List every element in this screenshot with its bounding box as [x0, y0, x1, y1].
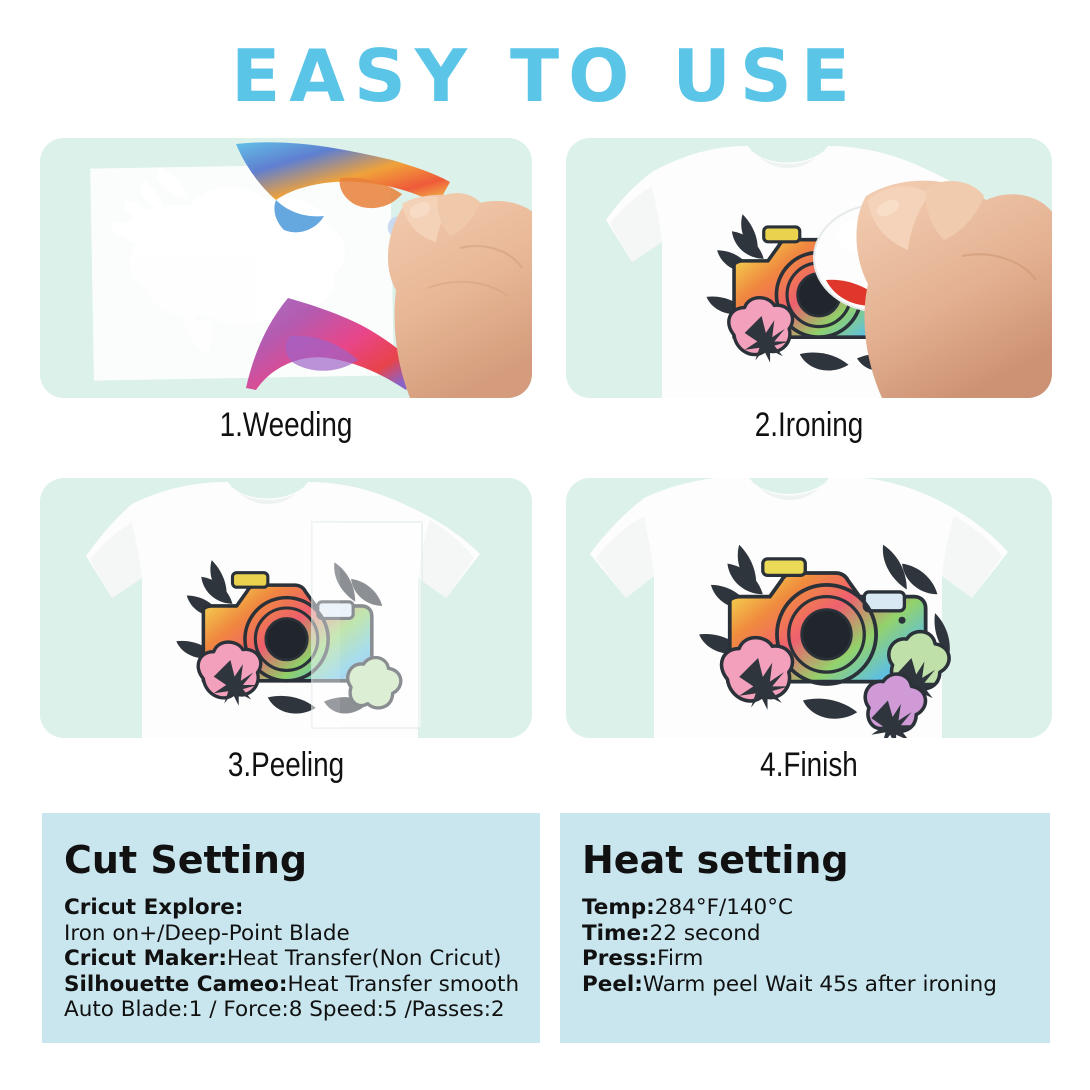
step-caption-ironing: 2.Ironing	[610, 406, 1009, 444]
step-photo-weeding	[40, 138, 532, 398]
cut-setting-panel: Cut Setting Cricut Explore: Iron on+/Dee…	[42, 813, 540, 1043]
heat-line-peel: Peel:Warm peel Wait 45s after ironing	[582, 972, 1040, 998]
heat-line-press: Press:Firm	[582, 946, 1040, 972]
cut-value-2: Iron on+/Deep-Point Blade	[64, 921, 350, 946]
heat-label-temp: Temp:	[582, 895, 655, 920]
cut-label-3: Cricut Maker:	[64, 946, 227, 971]
heat-value-press: Firm	[657, 946, 703, 971]
heat-setting-heading: Heat setting	[560, 813, 1050, 881]
ironing-illustration	[566, 138, 1052, 398]
cut-line-4: Silhouette Cameo:Heat Transfer smooth	[64, 972, 530, 998]
heat-value-peel: Warm peel Wait 45s after ironing	[643, 972, 997, 997]
heat-value-time: 22 second	[650, 921, 761, 946]
cut-label-1: Cricut Explore:	[64, 895, 243, 920]
step-caption-finish: 4.Finish	[610, 746, 1009, 784]
infographic-page: EASY TO USE	[0, 0, 1090, 1090]
cut-label-4: Silhouette Cameo:	[64, 972, 287, 997]
cut-line-1: Cricut Explore:	[64, 895, 530, 921]
heat-value-temp: 284°F/140°C	[655, 895, 793, 920]
peeling-illustration	[40, 478, 532, 738]
cut-value-4: Heat Transfer smooth	[287, 972, 519, 997]
heat-label-press: Press:	[582, 946, 657, 971]
finish-illustration	[566, 478, 1052, 738]
step-caption-peeling: 3.Peeling	[84, 746, 487, 784]
step-photo-finish	[566, 478, 1052, 738]
step-photo-ironing	[566, 138, 1052, 398]
cut-line-5: Auto Blade:1 / Force:8 Speed:5 /Passes:2	[64, 997, 530, 1023]
cut-line-2: Iron on+/Deep-Point Blade	[64, 921, 530, 947]
cut-line-3: Cricut Maker:Heat Transfer(Non Cricut)	[64, 946, 530, 972]
cut-setting-heading: Cut Setting	[42, 813, 540, 881]
cut-value-5: Auto Blade:1 / Force:8 Speed:5 /Passes:2	[64, 997, 505, 1022]
step-caption-weeding: 1.Weeding	[84, 406, 487, 444]
cut-value-3: Heat Transfer(Non Cricut)	[227, 946, 501, 971]
heat-label-peel: Peel:	[582, 972, 643, 997]
heat-setting-panel: Heat setting Temp:284°F/140°C Time:22 se…	[560, 813, 1050, 1043]
step-photo-peeling	[40, 478, 532, 738]
heat-line-temp: Temp:284°F/140°C	[582, 895, 1040, 921]
heat-label-time: Time:	[582, 921, 650, 946]
weeding-illustration	[40, 138, 532, 398]
heat-line-time: Time:22 second	[582, 921, 1040, 947]
cut-setting-body: Cricut Explore: Iron on+/Deep-Point Blad…	[42, 881, 540, 1023]
heat-setting-body: Temp:284°F/140°C Time:22 second Press:Fi…	[560, 881, 1050, 997]
page-title: EASY TO USE	[0, 38, 1090, 114]
